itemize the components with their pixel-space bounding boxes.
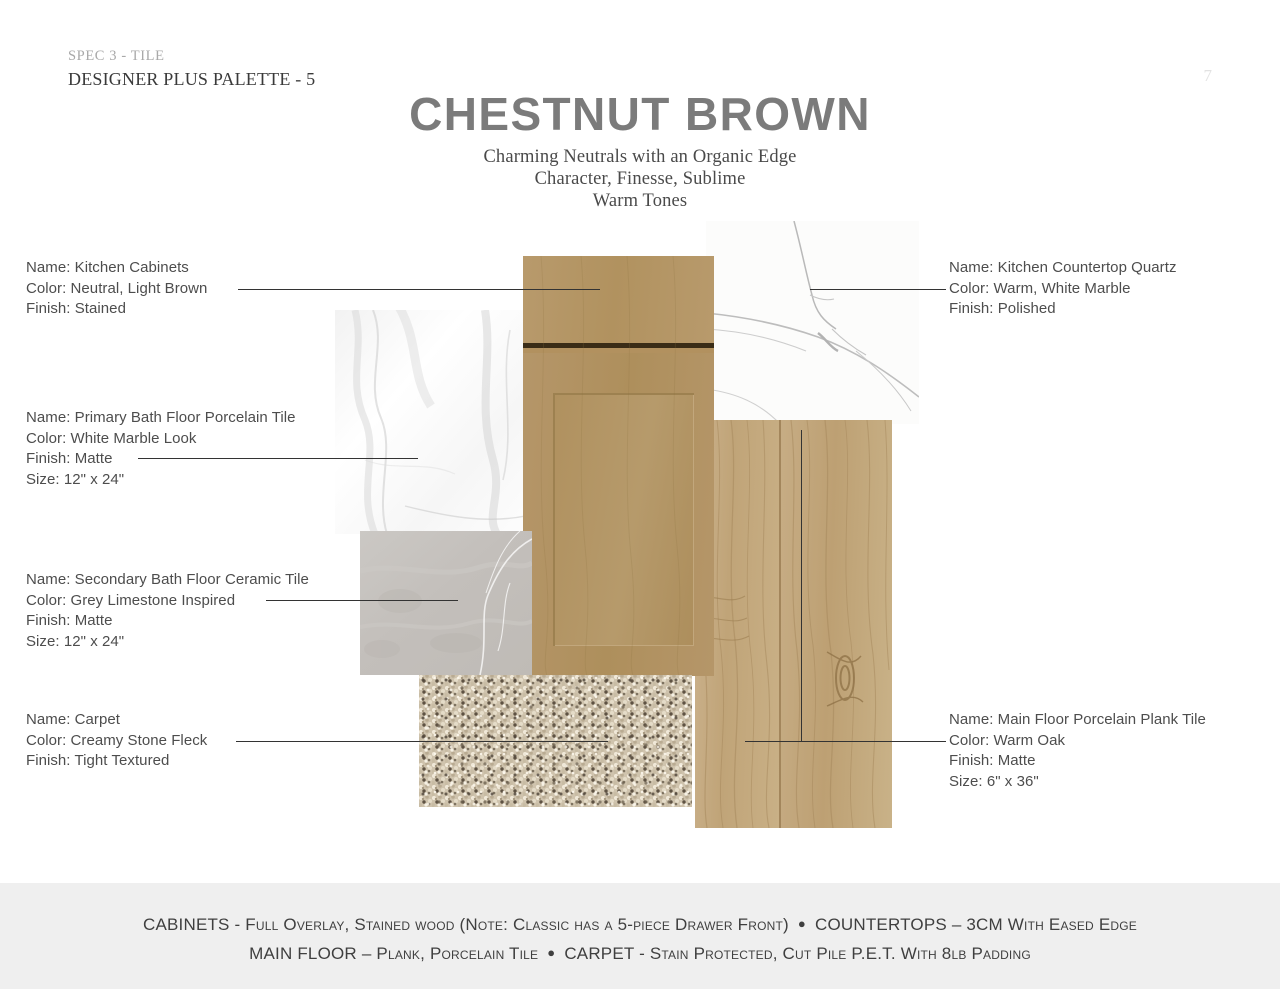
label-finish: Finish: Tight Textured: [26, 751, 207, 772]
label-finish: Finish: Matte: [949, 751, 1206, 772]
label-size: Size: 6" x 36": [949, 772, 1206, 793]
swatch-countertop-quartz: [706, 221, 919, 424]
label-finish: Finish: Matte: [26, 611, 309, 632]
leader-line-carpet: [236, 741, 608, 742]
label-color: Color: Warm, White Marble: [949, 279, 1177, 300]
footer-cabinets-spec: CABINETS - Full Overlay, Stained wood (N…: [143, 915, 789, 934]
label-size: Size: 12" x 24": [26, 470, 296, 491]
label-finish: Finish: Stained: [26, 299, 207, 320]
label-name: Name: Main Floor Porcelain Plank Tile: [949, 710, 1206, 731]
label-name: Name: Kitchen Cabinets: [26, 258, 207, 279]
footer-line-2: MAIN FLOOR – Plank, Porcelain Tile●CARPE…: [0, 944, 1280, 964]
bullet-separator-icon: ●: [538, 945, 564, 960]
label-carpet: Name: Carpet Color: Creamy Stone Fleck F…: [26, 710, 207, 772]
label-name: Name: Kitchen Countertop Quartz: [949, 258, 1177, 279]
label-color: Color: Creamy Stone Fleck: [26, 731, 207, 752]
label-finish: Finish: Polished: [949, 299, 1177, 320]
footer-carpet-spec: CARPET - Stain Protected, Cut Pile P.E.T…: [564, 944, 1031, 963]
footer-mainfloor-spec: MAIN FLOOR – Plank, Porcelain Tile: [249, 944, 538, 963]
label-color: Color: Neutral, Light Brown: [26, 279, 207, 300]
leader-line-mainfloor-vertical: [801, 430, 802, 742]
swatch-secondary-bath-tile: [360, 531, 532, 675]
label-name: Name: Primary Bath Floor Porcelain Tile: [26, 408, 296, 429]
label-main-floor-plank: Name: Main Floor Porcelain Plank Tile Co…: [949, 710, 1206, 792]
label-name: Name: Carpet: [26, 710, 207, 731]
cabinet-wood-grain: [523, 256, 714, 676]
swatch-kitchen-cabinet: [523, 256, 714, 676]
quartz-vein-texture: [706, 221, 919, 424]
label-color: Color: Warm Oak: [949, 731, 1206, 752]
label-name: Name: Secondary Bath Floor Ceramic Tile: [26, 570, 309, 591]
label-color: Color: Grey Limestone Inspired: [26, 591, 309, 612]
leader-line-cabinets: [238, 289, 600, 290]
limestone-texture: [360, 531, 532, 675]
oak-grain-texture: [695, 420, 892, 828]
label-finish: Finish: Matte: [26, 449, 296, 470]
footer-countertops-spec: COUNTERTOPS – 3CM With Eased Edge: [815, 915, 1137, 934]
material-collage: Name: Kitchen Cabinets Color: Neutral, L…: [0, 0, 1280, 883]
bullet-separator-icon: ●: [789, 916, 815, 931]
marble-vein-texture: [335, 310, 525, 534]
label-color: Color: White Marble Look: [26, 429, 296, 450]
leader-line-countertop: [810, 289, 946, 290]
swatch-primary-bath-tile: [335, 310, 525, 534]
swatch-main-floor-plank: [695, 420, 892, 828]
label-size: Size: 12" x 24": [26, 632, 309, 653]
label-kitchen-cabinets: Name: Kitchen Cabinets Color: Neutral, L…: [26, 258, 207, 320]
footer-band: CABINETS - Full Overlay, Stained wood (N…: [0, 883, 1280, 989]
label-countertop-quartz: Name: Kitchen Countertop Quartz Color: W…: [949, 258, 1177, 320]
footer-line-1: CABINETS - Full Overlay, Stained wood (N…: [0, 915, 1280, 935]
label-primary-bath-tile: Name: Primary Bath Floor Porcelain Tile …: [26, 408, 296, 490]
label-secondary-bath-tile: Name: Secondary Bath Floor Ceramic Tile …: [26, 570, 309, 652]
leader-line-mainfloor: [745, 741, 946, 742]
